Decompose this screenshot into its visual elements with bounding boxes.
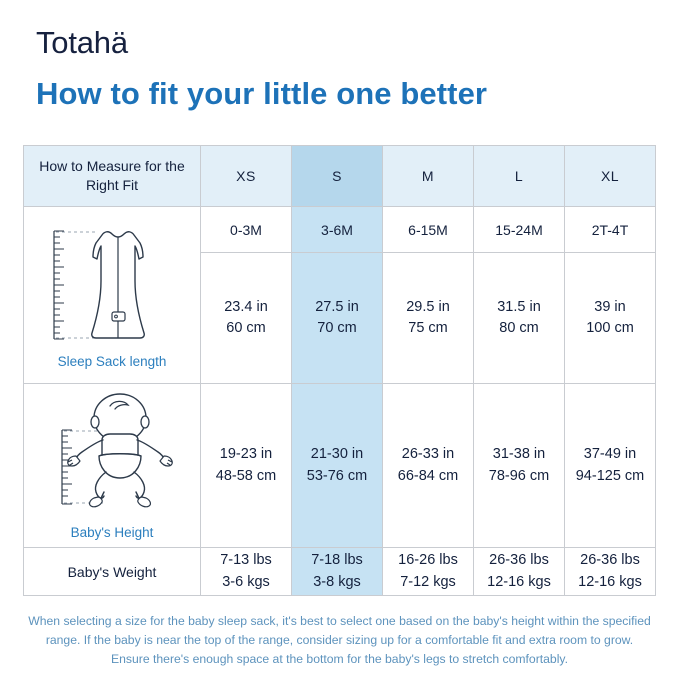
cell-weight-s-kgs: 3-8 kgs <box>292 572 382 593</box>
page-title: How to fit your little one better <box>36 77 487 111</box>
cell-length-l-in: 31.5 in <box>474 297 564 318</box>
cell-height-xs: 19-23 in 48-58 cm <box>201 384 292 548</box>
table-header-row: How to Measure for the Right Fit XS S M … <box>24 146 656 207</box>
cell-height-xs-cm: 48-58 cm <box>201 466 291 487</box>
cell-length-m-cm: 75 cm <box>383 318 473 339</box>
footer-note: When selecting a size for the baby sleep… <box>23 612 656 669</box>
size-table-container: How to Measure for the Right Fit XS S M … <box>23 145 656 596</box>
cell-height-l-cm: 78-96 cm <box>474 466 564 487</box>
cell-height-xl-in: 37-49 in <box>565 444 655 465</box>
cell-age-m: 6-15M <box>383 207 474 253</box>
cell-weight-s-lbs: 7-18 lbs <box>292 550 382 571</box>
cell-height-m-cm: 66-84 cm <box>383 466 473 487</box>
cell-age-xl: 2T-4T <box>565 207 656 253</box>
baby-weight-label: Baby's Weight <box>24 548 201 596</box>
cell-height-s-cm: 53-76 cm <box>292 466 382 487</box>
cell-weight-xs-lbs: 7-13 lbs <box>201 550 291 571</box>
cell-weight-xs-kgs: 3-6 kgs <box>201 572 291 593</box>
brand-logo: Totahä <box>36 27 128 58</box>
cell-weight-xl: 26-36 lbs 12-16 kgs <box>565 548 656 596</box>
cell-age-l: 15-24M <box>474 207 565 253</box>
cell-age-s: 3-6M <box>292 207 383 253</box>
cell-weight-m: 16-26 lbs 7-12 kgs <box>383 548 474 596</box>
cell-length-s: 27.5 in 70 cm <box>292 253 383 384</box>
cell-weight-m-kgs: 7-12 kgs <box>383 572 473 593</box>
footer-line-1: When selecting a size for the baby sleep… <box>23 612 656 631</box>
cell-height-s-in: 21-30 in <box>292 444 382 465</box>
header-size-xl: XL <box>565 146 656 207</box>
cell-height-xl: 37-49 in 94-125 cm <box>565 384 656 548</box>
size-table: How to Measure for the Right Fit XS S M … <box>23 145 656 596</box>
table-row: Sleep Sack length 0-3M 3-6M 6-15M 15-24M… <box>24 207 656 253</box>
cell-length-m: 29.5 in 75 cm <box>383 253 474 384</box>
header-size-l: L <box>474 146 565 207</box>
sleep-sack-illustration-cell: Sleep Sack length <box>24 207 201 384</box>
cell-length-s-in: 27.5 in <box>292 297 382 318</box>
cell-age-xs: 0-3M <box>201 207 292 253</box>
cell-height-xs-in: 19-23 in <box>201 444 291 465</box>
sleep-sack-illustration-icon <box>36 221 188 352</box>
cell-height-l: 31-38 in 78-96 cm <box>474 384 565 548</box>
table-row: Baby's Height 19-23 in 48-58 cm 21-30 in… <box>24 384 656 548</box>
header-size-s: S <box>292 146 383 207</box>
cell-weight-xl-lbs: 26-36 lbs <box>565 550 655 571</box>
cell-height-m: 26-33 in 66-84 cm <box>383 384 474 548</box>
cell-weight-l-kgs: 12-16 kgs <box>474 572 564 593</box>
cell-length-m-in: 29.5 in <box>383 297 473 318</box>
footer-line-2: range. If the baby is near the top of th… <box>23 631 656 650</box>
baby-illustration-icon <box>36 392 188 523</box>
header-measure-label: How to Measure for the Right Fit <box>24 146 201 207</box>
cell-weight-m-lbs: 16-26 lbs <box>383 550 473 571</box>
cell-length-xl-cm: 100 cm <box>565 318 655 339</box>
cell-height-s: 21-30 in 53-76 cm <box>292 384 383 548</box>
baby-height-label: Baby's Height <box>71 525 154 540</box>
baby-illustration-cell: Baby's Height <box>24 384 201 548</box>
header-size-xs: XS <box>201 146 292 207</box>
cell-length-l: 31.5 in 80 cm <box>474 253 565 384</box>
cell-weight-s: 7-18 lbs 3-8 kgs <box>292 548 383 596</box>
cell-weight-xs: 7-13 lbs 3-6 kgs <box>201 548 292 596</box>
cell-length-xl-in: 39 in <box>565 297 655 318</box>
cell-weight-l: 26-36 lbs 12-16 kgs <box>474 548 565 596</box>
cell-length-xs: 23.4 in 60 cm <box>201 253 292 384</box>
cell-length-xs-cm: 60 cm <box>201 318 291 339</box>
cell-height-xl-cm: 94-125 cm <box>565 466 655 487</box>
cell-length-l-cm: 80 cm <box>474 318 564 339</box>
cell-length-s-cm: 70 cm <box>292 318 382 339</box>
sleep-sack-length-label: Sleep Sack length <box>58 354 167 369</box>
size-chart-page: Totahä How to fit your little one better… <box>0 0 679 679</box>
cell-length-xl: 39 in 100 cm <box>565 253 656 384</box>
header-size-m: M <box>383 146 474 207</box>
table-row: Baby's Weight 7-13 lbs 3-6 kgs 7-18 lbs … <box>24 548 656 596</box>
cell-height-l-in: 31-38 in <box>474 444 564 465</box>
cell-height-m-in: 26-33 in <box>383 444 473 465</box>
footer-line-3: Ensure there's enough space at the botto… <box>23 650 656 669</box>
cell-length-xs-in: 23.4 in <box>201 297 291 318</box>
cell-weight-xl-kgs: 12-16 kgs <box>565 572 655 593</box>
cell-weight-l-lbs: 26-36 lbs <box>474 550 564 571</box>
